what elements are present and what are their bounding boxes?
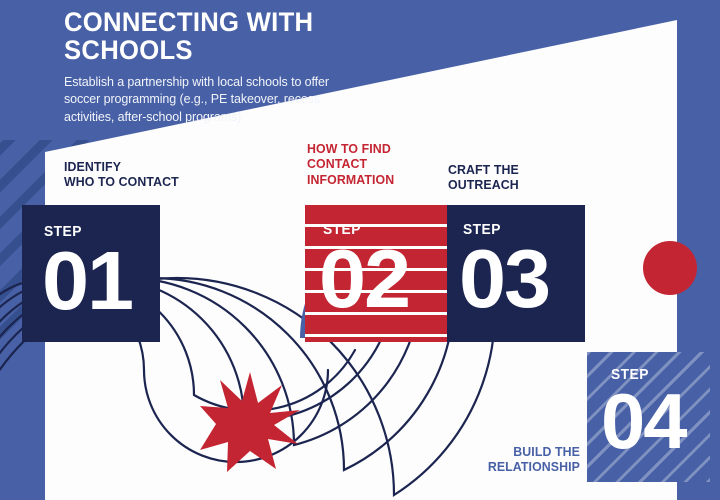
step-card-02[interactable]: STEP 02 — [305, 205, 447, 342]
step-card-01[interactable]: STEP 01 — [22, 205, 160, 342]
step-caption-03-line2: OUTREACH — [448, 177, 519, 192]
step-number-02: 02 — [319, 245, 409, 313]
step-caption-03-line1: CRAFT THE — [448, 162, 519, 177]
step-number-04: 04 — [601, 390, 685, 454]
step-card-03[interactable]: STEP 03 — [447, 205, 585, 342]
page-title: CONNECTING WITH SCHOOLS — [64, 8, 444, 65]
red-circle-decoration — [643, 241, 697, 295]
step-caption-03: CRAFT THE OUTREACH — [448, 162, 519, 193]
starburst-decoration — [200, 372, 300, 472]
infographic-poster: CONNECTING WITH SCHOOLS Establish a part… — [0, 0, 720, 500]
step-caption-04-line1: BUILD THE — [438, 444, 581, 459]
step-caption-02-line2: CONTACT — [307, 156, 394, 171]
step-caption-01: IDENTIFY WHO TO CONTACT — [64, 159, 179, 190]
step-number-03: 03 — [459, 245, 549, 313]
poster-header: CONNECTING WITH SCHOOLS Establish a part… — [64, 8, 464, 127]
step-caption-02: HOW TO FIND CONTACT INFORMATION — [307, 141, 394, 187]
step-caption-01-line1: IDENTIFY — [64, 159, 179, 174]
step-caption-04-line2: RELATIONSHIP — [438, 459, 581, 474]
poster-subtitle: Establish a partnership with local schoo… — [64, 74, 364, 127]
step-caption-01-line2: WHO TO CONTACT — [64, 174, 179, 189]
step-number-01: 01 — [42, 247, 132, 315]
step-caption-02-line3: INFORMATION — [307, 172, 394, 187]
step-caption-04: BUILD THE RELATIONSHIP — [438, 444, 581, 475]
step-caption-02-line1: HOW TO FIND — [307, 141, 394, 156]
step-card-04[interactable]: STEP 04 — [587, 352, 710, 482]
